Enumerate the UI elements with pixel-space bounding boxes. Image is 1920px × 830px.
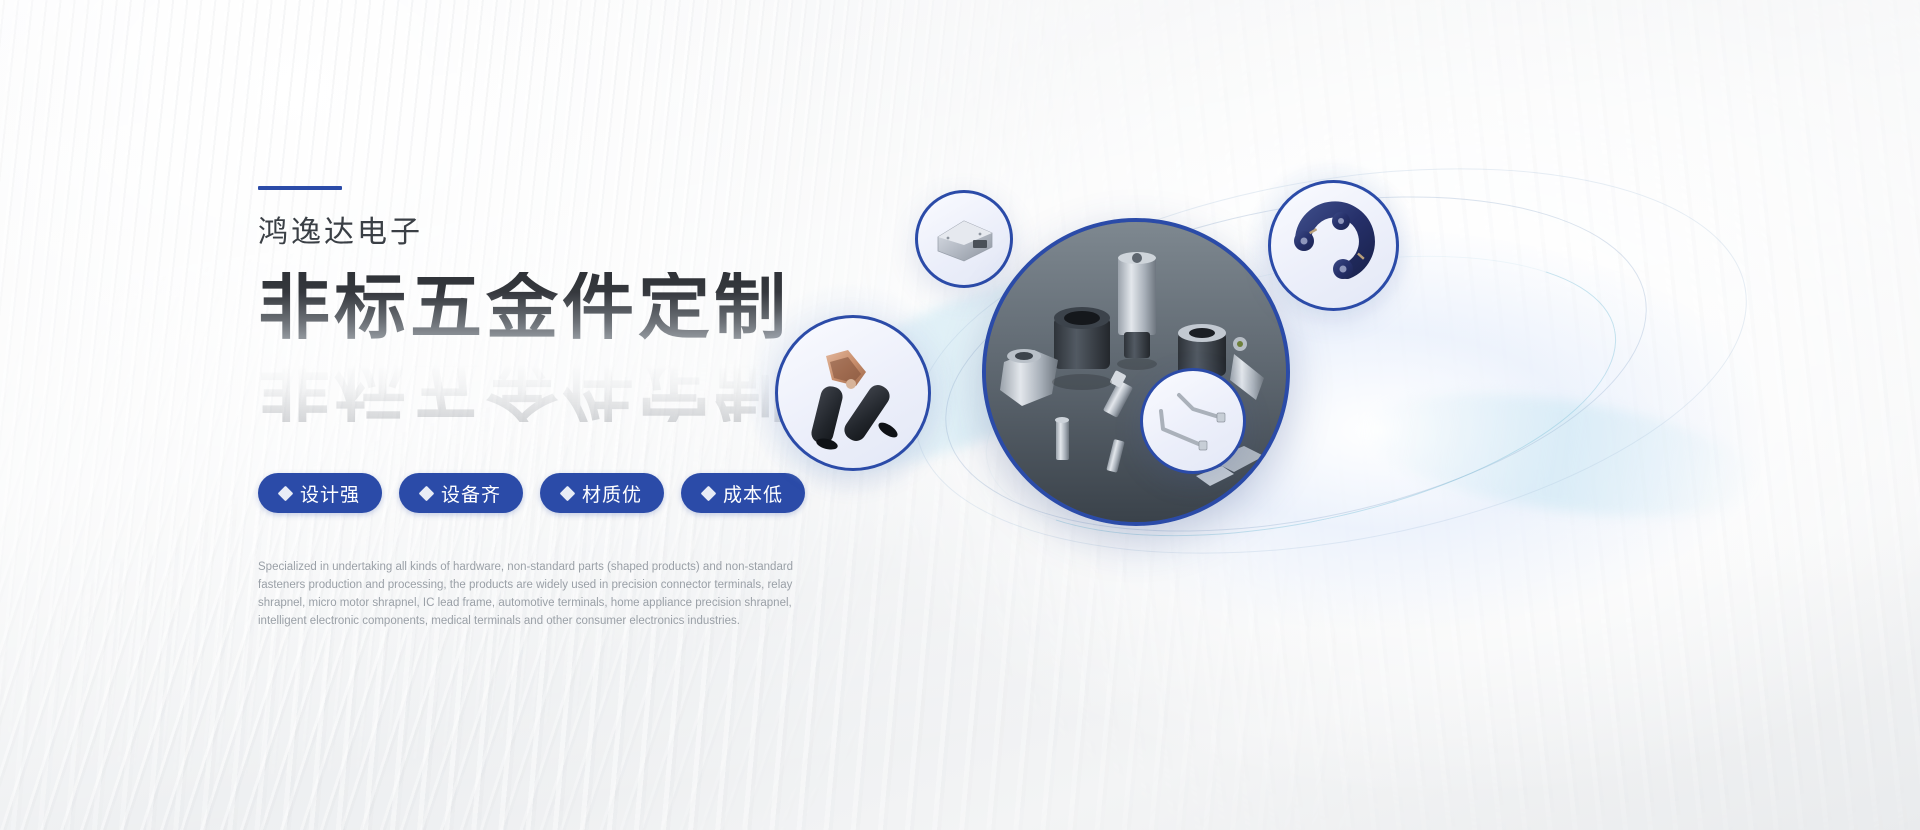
bent-terminal-pins-bubble[interactable] — [1140, 368, 1246, 474]
diamond-icon — [419, 485, 435, 501]
feature-tag-equipment[interactable]: 设备齐 — [399, 473, 523, 513]
retaining-ring-icon — [1271, 183, 1396, 308]
retaining-ring-bubble[interactable] — [1268, 180, 1399, 311]
brand-name: 鸿逸达电子 — [258, 218, 918, 248]
feature-tag-list: 设计强 设备齐 材质优 成本低 — [258, 473, 805, 513]
feature-tag-cost[interactable]: 成本低 — [681, 473, 805, 513]
feature-tag-label: 设备齐 — [441, 480, 501, 507]
accent-rule — [258, 186, 342, 190]
feature-tag-label: 设计强 — [300, 480, 360, 507]
diamond-icon — [560, 485, 576, 501]
product-showcase — [930, 150, 1830, 670]
feature-tag-material[interactable]: 材质优 — [540, 473, 664, 513]
diamond-icon — [701, 485, 717, 501]
feature-tag-label: 材质优 — [582, 480, 642, 507]
company-description: Specialized in undertaking all kinds of … — [258, 558, 826, 631]
diamond-icon — [278, 485, 294, 501]
hero-banner: 鸿逸达电子 非标五金件定制 非标五金件定制 设计强 设备齐 材质优 成本低 Sp… — [0, 0, 1920, 830]
hardware-parts-bubble[interactable] — [982, 218, 1290, 526]
battery-clamp-bubble[interactable] — [775, 315, 931, 471]
headline-reflection: 非标五金件定制 — [258, 350, 790, 422]
bent-terminal-pins-icon — [1143, 371, 1243, 471]
feature-tag-label: 成本低 — [723, 480, 783, 507]
battery-clamp-icon — [778, 318, 928, 468]
feature-tag-design[interactable]: 设计强 — [258, 473, 382, 513]
